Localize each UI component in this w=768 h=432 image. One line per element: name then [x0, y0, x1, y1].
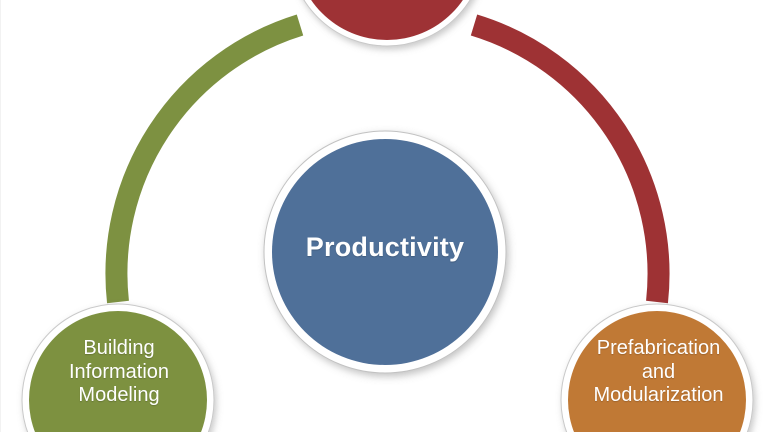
- diagram-canvas: Productivity Building Information Modeli…: [0, 0, 768, 432]
- cycle-diagram: [0, 0, 768, 432]
- node-prefabrication-and-modularization[interactable]: [561, 304, 753, 432]
- node-top[interactable]: [289, 0, 485, 46]
- node-building-information-modeling[interactable]: [22, 304, 214, 432]
- node-productivity[interactable]: [264, 131, 506, 373]
- node-center-fill: [272, 139, 498, 365]
